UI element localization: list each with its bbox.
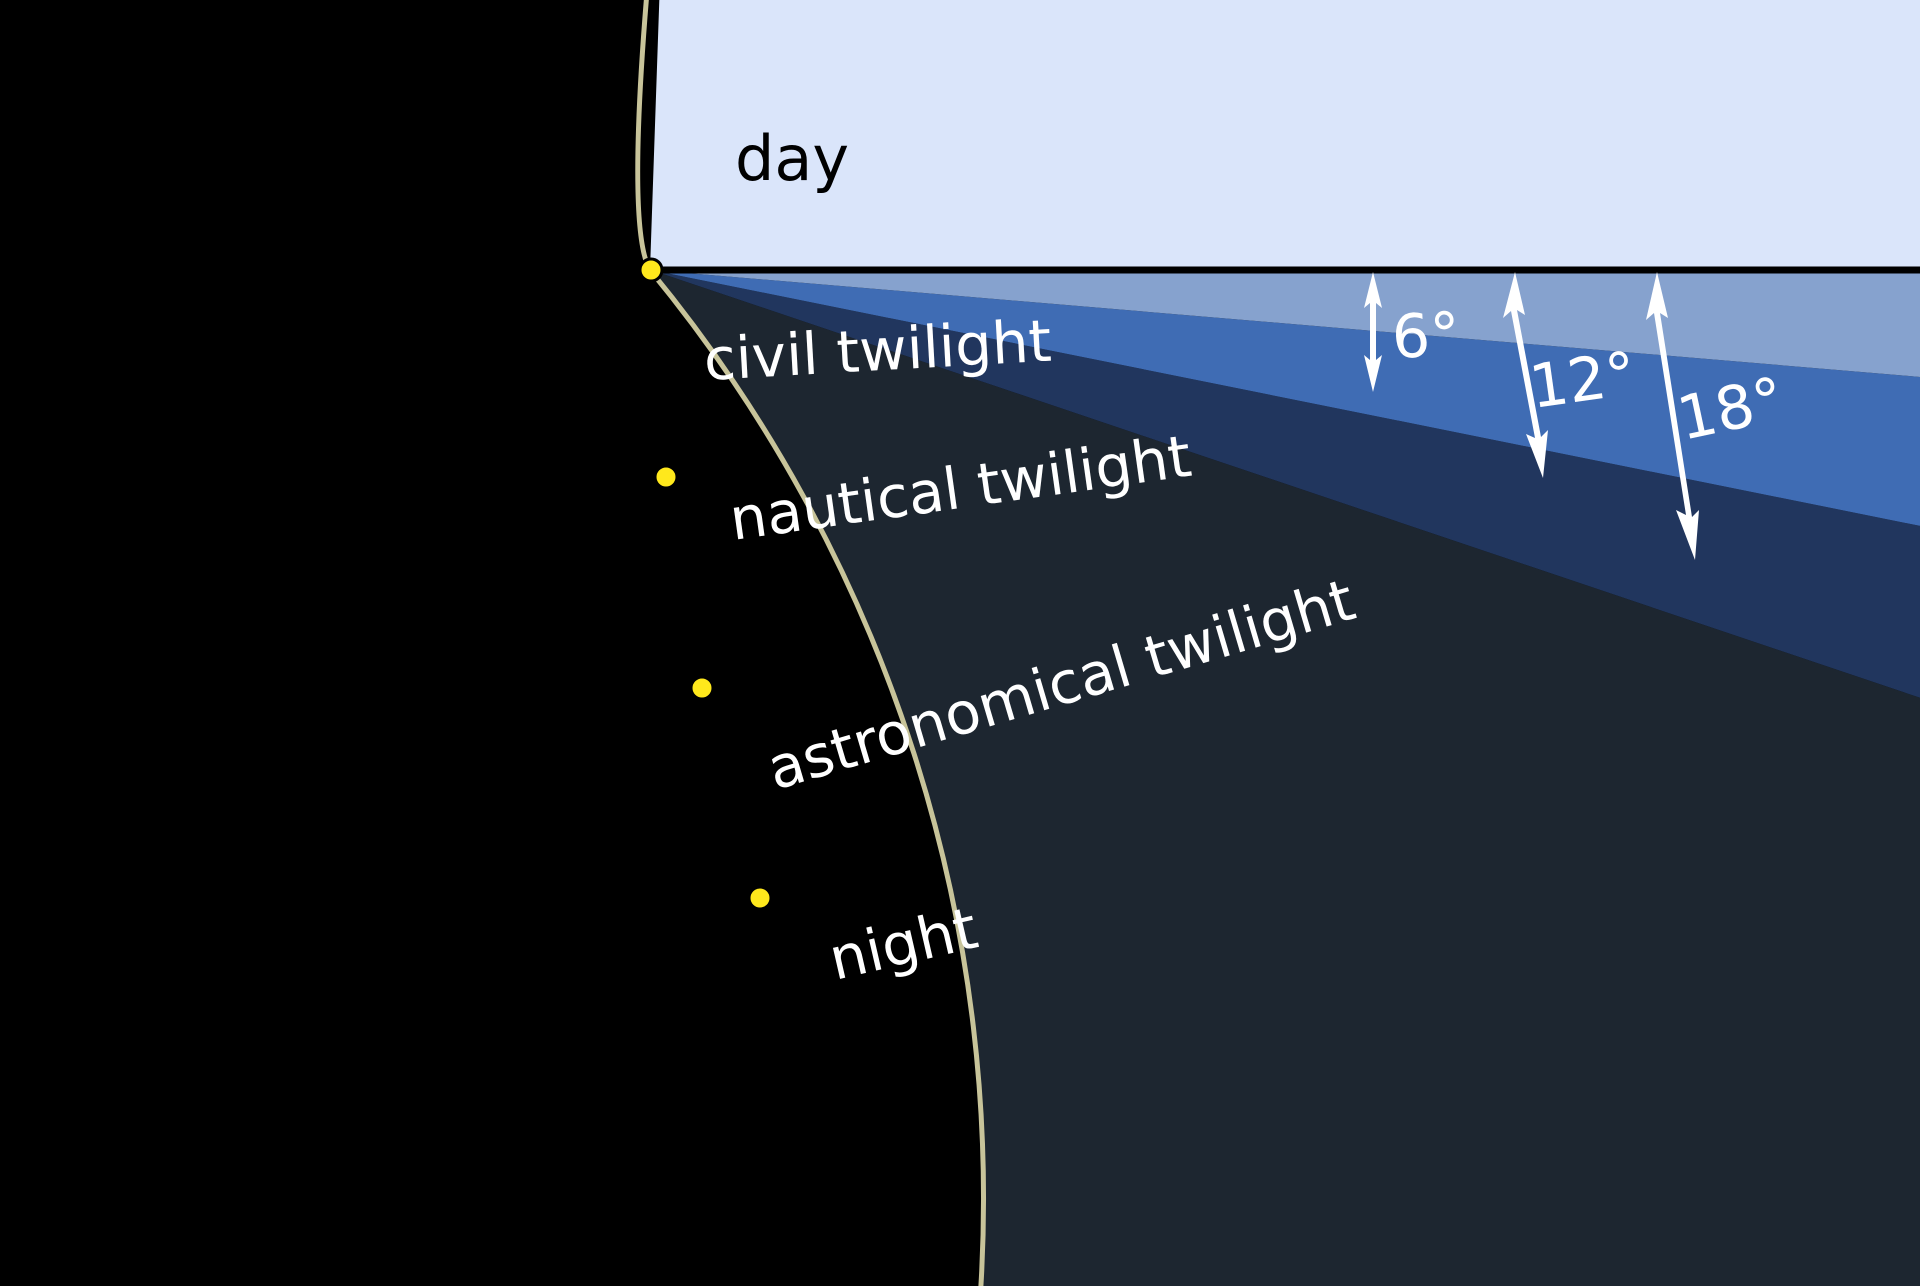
sun-position-horizon <box>640 259 662 281</box>
sun-position-18deg <box>749 887 771 909</box>
twilight-diagram: day civil twilight nautical twilight ast… <box>0 0 1920 1286</box>
angle-label-6: 6° <box>1390 300 1462 373</box>
zone-label-day: day <box>735 122 849 195</box>
sun-position-12deg <box>691 677 713 699</box>
angle-label-12: 12° <box>1525 339 1640 423</box>
sun-position-6deg <box>655 466 677 488</box>
diagram-canvas: day civil twilight nautical twilight ast… <box>0 0 1920 1286</box>
